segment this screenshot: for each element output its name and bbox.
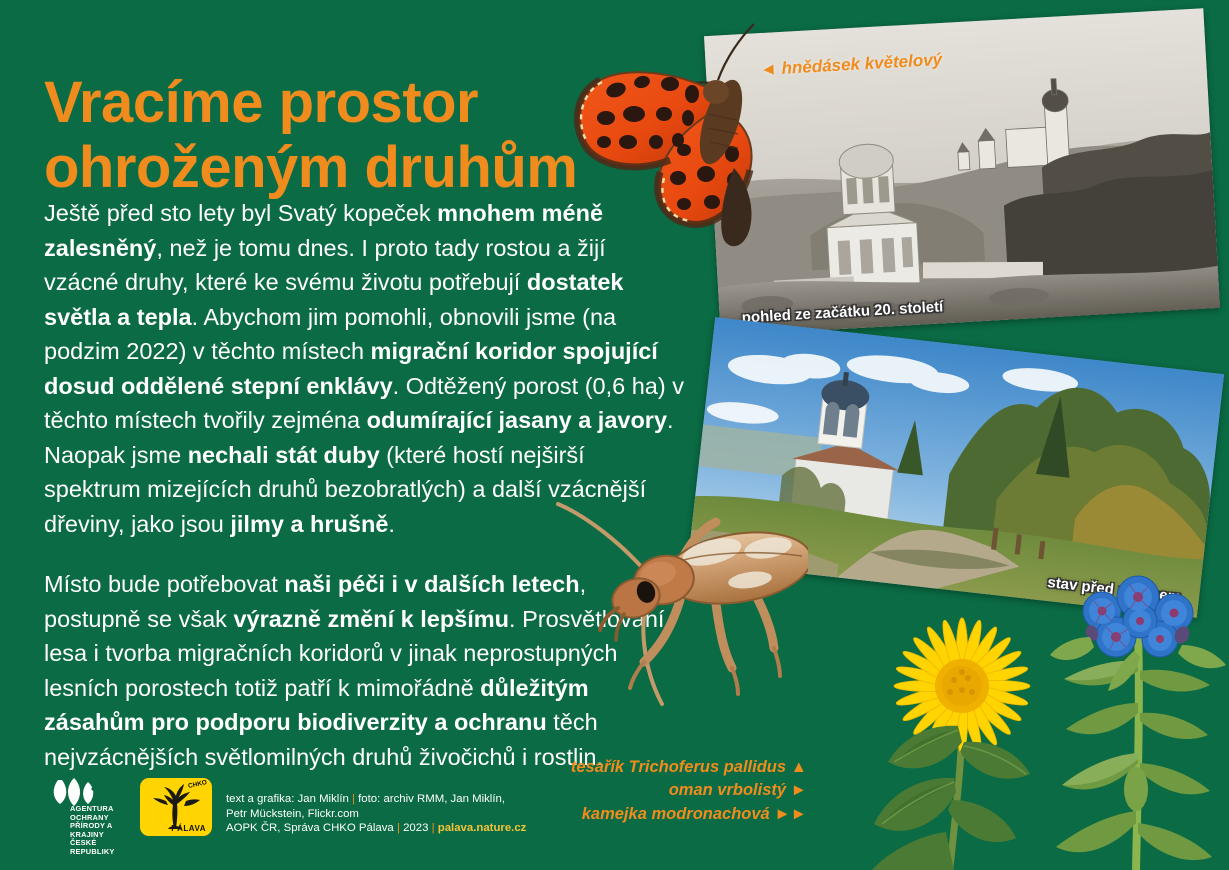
longhorn-beetle-image — [540, 482, 808, 718]
credits-line-1: text a grafika: Jan Miklín | foto: archi… — [226, 792, 526, 807]
footer: AGENTURA OCHRANY PŘÍRODY A KRAJINY ČESKÉ… — [44, 778, 526, 836]
credits-year: 2023 — [403, 822, 428, 834]
beetle-icon — [540, 482, 808, 718]
credits-separator-3: | — [432, 822, 435, 834]
lithospermum-flower-image — [1050, 575, 1229, 870]
credits-line-3: AOPK ČR, Správa CHKO Pálava | 2023 | pal… — [226, 821, 526, 836]
inula-flower-image — [858, 600, 1068, 870]
blue-flower-icon — [1050, 575, 1229, 870]
logo-chko-palava: CHKO PÁLAVA — [140, 778, 212, 836]
logo-aopk-text: AGENTURA OCHRANY PŘÍRODY A KRAJINY ČESKÉ… — [70, 805, 126, 857]
page-title: Vracíme prostor ohroženým druhům — [44, 71, 664, 201]
yellow-flower-icon — [858, 600, 1068, 870]
credits-separator-2: | — [397, 822, 400, 834]
poster-canvas: pohled ze začátku 20. století ◄ hnědásek… — [0, 0, 1229, 870]
species-caption-list: tesařík Trichoferus pallidus ▲ oman vrbo… — [571, 756, 807, 827]
photo-historic: pohled ze začátku 20. století — [704, 8, 1220, 335]
credits-website-link[interactable]: palava.nature.cz — [438, 822, 527, 834]
species-name-lithospermum: kamejka modronachová — [582, 805, 770, 823]
species-caption-inula: oman vrbolistý ► — [571, 779, 807, 803]
historic-photo-image — [704, 8, 1220, 335]
credits-org: AOPK ČR, Správa CHKO Pálava — [226, 822, 394, 834]
credits-author: text a grafika: Jan Miklín — [226, 793, 349, 805]
arrow-right-icon: ► — [791, 781, 807, 799]
logo-aopk: AGENTURA OCHRANY PŘÍRODY A KRAJINY ČESKÉ… — [44, 778, 126, 836]
logo-palava-label: PÁLAVA — [171, 824, 206, 833]
credits-separator-1: | — [352, 793, 355, 805]
species-name-beetle: tesařík Trichoferus pallidus — [571, 758, 786, 776]
species-caption-beetle: tesařík Trichoferus pallidus ▲ — [571, 756, 807, 780]
species-name-inula: oman vrbolistý — [669, 781, 786, 799]
arrow-double-right-icon: ►► — [774, 805, 807, 823]
arrow-up-icon: ▲ — [791, 758, 807, 776]
credits-photos: foto: archiv RMM, Jan Miklín, — [358, 793, 505, 805]
credits-block: text a grafika: Jan Miklín | foto: archi… — [226, 778, 526, 836]
credits-line-2: Petr Mückstein, Flickr.com — [226, 807, 526, 822]
species-caption-lithospermum: kamejka modronachová ►► — [571, 803, 807, 827]
